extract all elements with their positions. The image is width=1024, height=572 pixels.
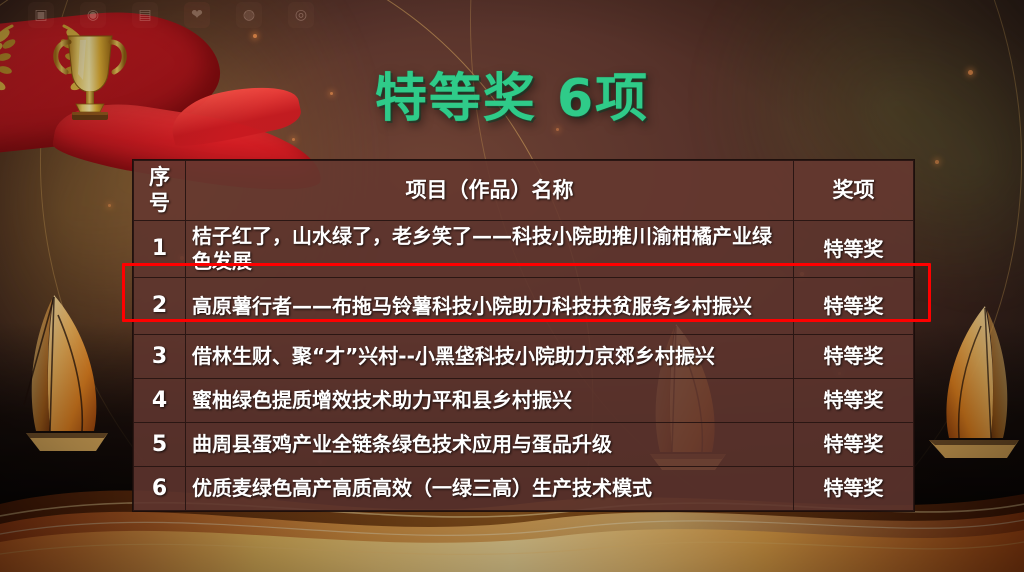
app-icon-2[interactable]: ◉ [80,2,106,28]
row-number: 4 [134,379,186,423]
app-icon-2-glyph: ◉ [87,7,99,23]
row-award: 特等奖 [794,467,914,511]
row-number: 2 [134,278,186,335]
award-table: 序号 项目（作品）名称 奖项 1 桔子红了，山水绿了，老乡笑了——科技小院助推川… [133,160,914,511]
app-icon-1[interactable]: ▣ [28,2,54,28]
row-project-name: 蜜柚绿色提质增效技术助力平和县乡村振兴 [186,379,794,423]
table-row[interactable]: 4 蜜柚绿色提质增效技术助力平和县乡村振兴 特等奖 [134,379,914,423]
app-icon-4-glyph: ❤ [191,7,203,23]
app-icon-1-glyph: ▣ [34,7,47,23]
row-number: 1 [134,220,186,277]
row-project-name: 借林生财、聚“才”兴村--小黑垡科技小院助力京郊乡村振兴 [186,335,794,379]
app-icon-6-glyph: ◎ [295,7,307,23]
row-number: 5 [134,423,186,467]
column-header-name: 项目（作品）名称 [186,161,794,221]
row-project-name: 优质麦绿色高产高质高效（一绿三高）生产技术模式 [186,467,794,511]
row-award: 特等奖 [794,220,914,277]
row-project-name: 高原薯行者——布拖马铃薯科技小院助力科技扶贫服务乡村振兴 [186,278,794,335]
table-row[interactable]: 5 曲周县蛋鸡产业全链条绿色技术应用与蛋品升级 特等奖 [134,423,914,467]
column-header-no: 序号 [134,161,186,221]
top-app-icon-strip: ▣ ◉ ▤ ❤ ◍ ◎ [28,2,314,28]
table-row[interactable]: 1 桔子红了，山水绿了，老乡笑了——科技小院助推川渝柑橘产业绿色发展 特等奖 [134,220,914,277]
table-row[interactable]: 6 优质麦绿色高产高质高效（一绿三高）生产技术模式 特等奖 [134,467,914,511]
app-icon-3[interactable]: ▤ [132,2,158,28]
app-icon-5[interactable]: ◍ [236,2,262,28]
table-header-row: 序号 项目（作品）名称 奖项 [134,161,914,221]
row-project-name: 曲周县蛋鸡产业全链条绿色技术应用与蛋品升级 [186,423,794,467]
table-row[interactable]: 3 借林生财、聚“才”兴村--小黑垡科技小院助力京郊乡村振兴 特等奖 [134,335,914,379]
app-icon-6[interactable]: ◎ [288,2,314,28]
row-award: 特等奖 [794,278,914,335]
row-award: 特等奖 [794,335,914,379]
slide-title: 特等奖 6项 [0,56,1024,131]
award-table-container: 序号 项目（作品）名称 奖项 1 桔子红了，山水绿了，老乡笑了——科技小院助推川… [133,160,913,511]
row-number: 3 [134,335,186,379]
row-project-name: 桔子红了，山水绿了，老乡笑了——科技小院助推川渝柑橘产业绿色发展 [186,220,794,277]
app-icon-5-glyph: ◍ [243,7,255,23]
table-row-highlighted[interactable]: 2 高原薯行者——布拖马铃薯科技小院助力科技扶贫服务乡村振兴 特等奖 [134,278,914,335]
app-icon-3-glyph: ▤ [138,7,151,23]
row-award: 特等奖 [794,423,914,467]
app-icon-4[interactable]: ❤ [184,2,210,28]
column-header-award: 奖项 [794,161,914,221]
row-number: 6 [134,467,186,511]
presentation-slide: ▣ ◉ ▤ ❤ ◍ ◎ [0,0,1024,572]
row-award: 特等奖 [794,379,914,423]
